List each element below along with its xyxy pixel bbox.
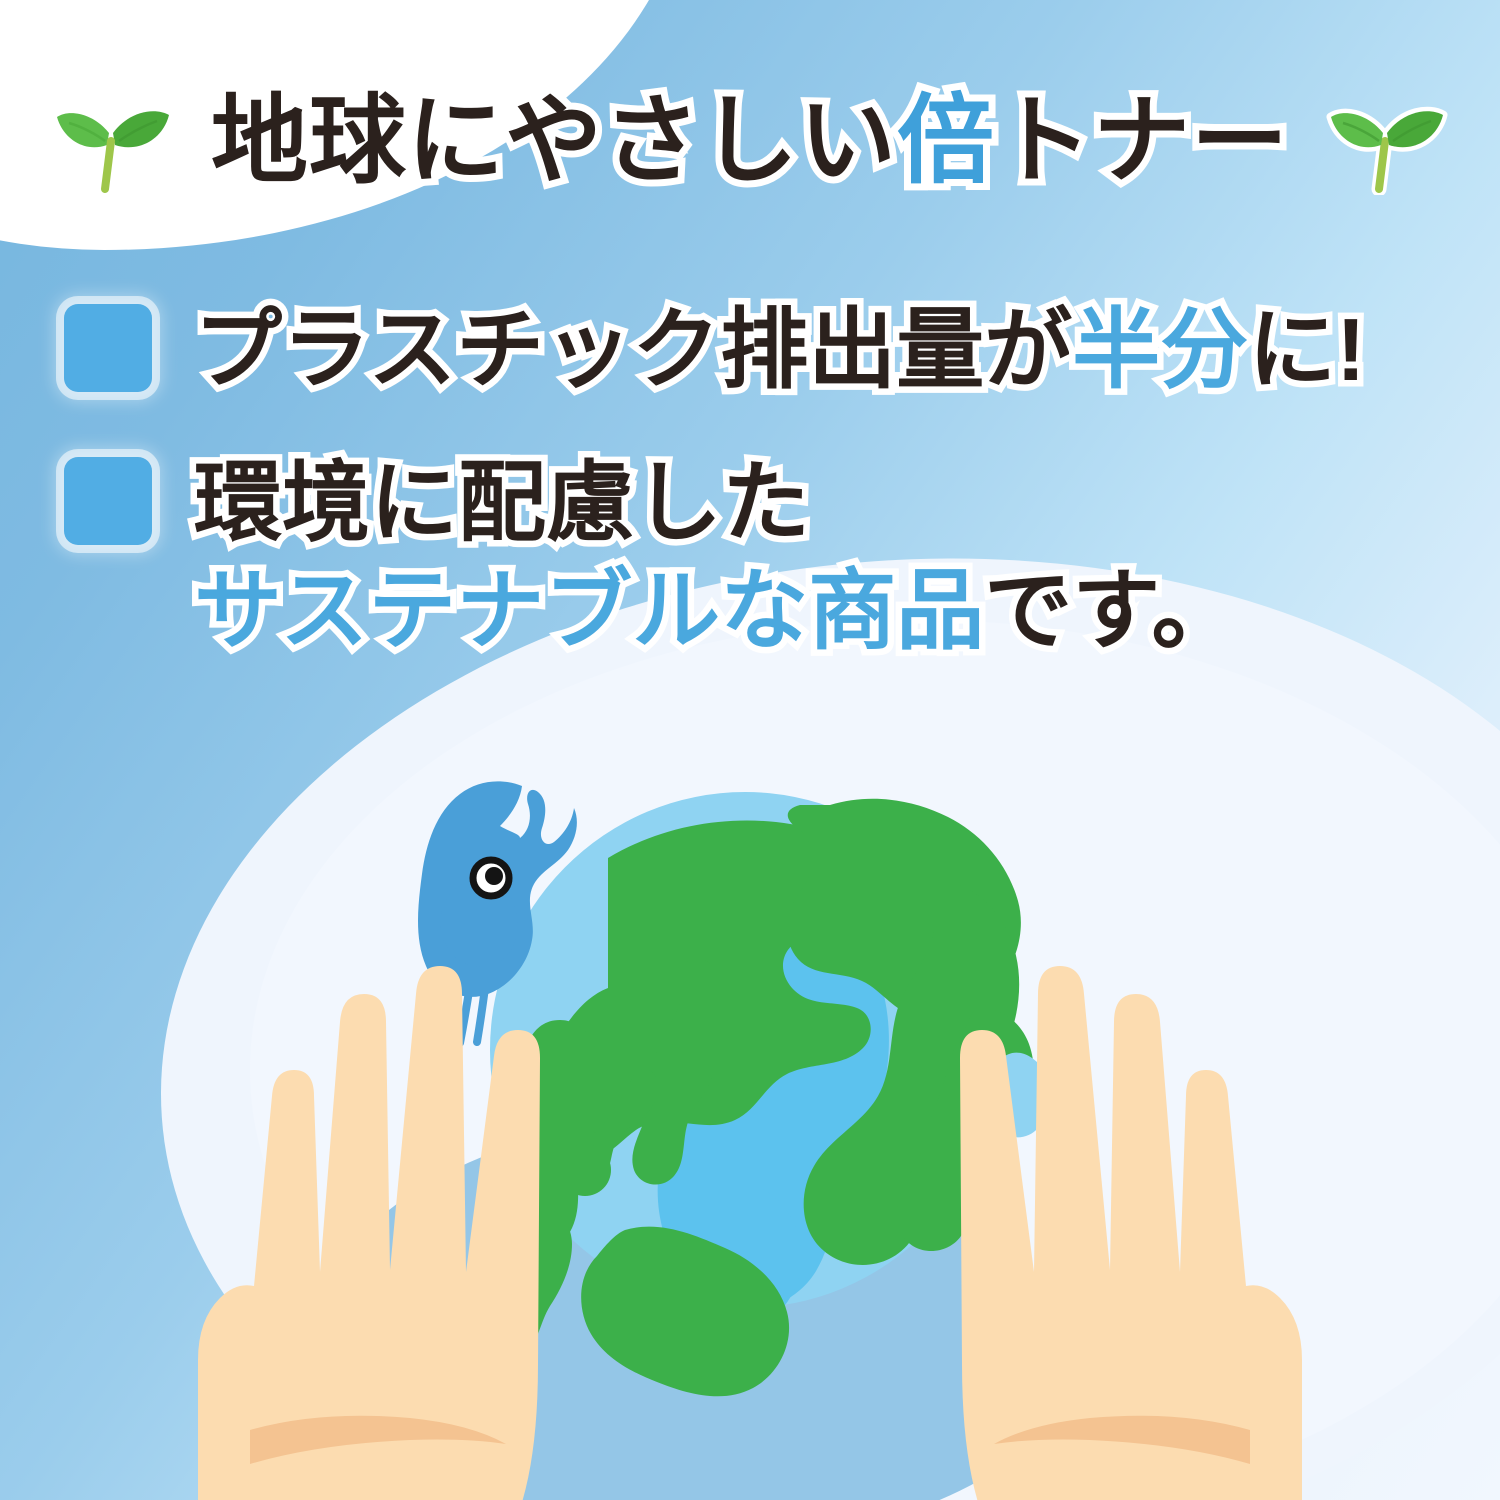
page-title: 地球にやさしい倍トナー	[211, 92, 1289, 189]
bullet1-seg3: に!	[1248, 300, 1365, 399]
poster-canvas: 地球にやさしい倍トナー プラスチック排出量が半分に!	[0, 0, 1500, 1500]
checkbox-square-icon	[64, 304, 152, 392]
sprout-icon	[49, 85, 177, 195]
header-banner: 地球にやさしい倍トナー	[0, 70, 1500, 210]
bullet1-seg1: プラスチック排出量が	[194, 300, 1072, 399]
bullet1-highlight: 半分	[1072, 300, 1248, 399]
bullet2-seg1: 環境に配慮した	[194, 453, 810, 552]
title-part-highlight: 倍	[897, 86, 995, 195]
bullet-text-1: プラスチック排出量が半分に!	[194, 296, 1366, 403]
title-part-3: トナー	[995, 86, 1289, 195]
bullet-text-2: 環境に配慮した サステナブルな商品です。	[194, 449, 1239, 664]
bullet2-line2: サステナブルな商品です。	[194, 557, 1239, 664]
list-item: 環境に配慮した サステナブルな商品です。	[64, 449, 1464, 664]
checkbox-square-icon	[64, 457, 152, 545]
bullet2-line1: 環境に配慮した	[194, 449, 1239, 556]
bullet2-highlight: サステナブルな商品	[194, 561, 984, 660]
title-part-1: 地球にやさしい	[211, 86, 897, 195]
sprout-icon	[1323, 85, 1451, 195]
list-item: プラスチック排出量が半分に!	[64, 296, 1464, 403]
feature-list: プラスチック排出量が半分に! 環境に配慮した サステナブルな商品です。	[64, 296, 1464, 710]
bullet2-seg3: です。	[984, 561, 1239, 660]
